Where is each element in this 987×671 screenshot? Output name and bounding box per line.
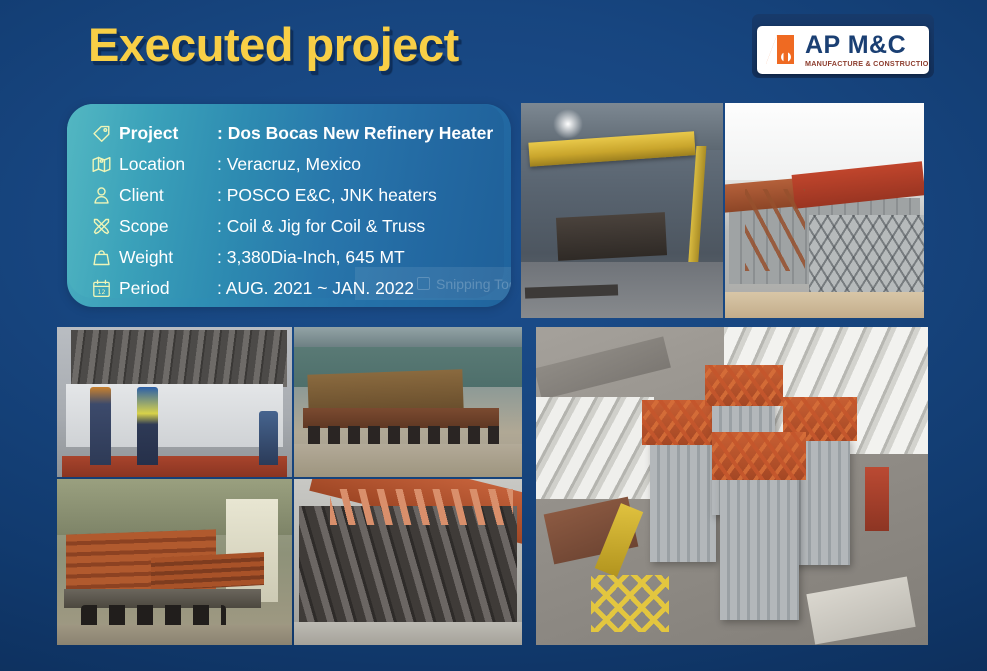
svg-text:12: 12: [97, 289, 105, 296]
photo-transport-trailer: [294, 327, 522, 477]
info-label-project: Project: [119, 123, 217, 144]
info-value-period: : AUG. 2021 ~ JAN. 2022: [217, 278, 503, 299]
info-value-project: : Dos Bocas New Refinery Heater: [217, 123, 503, 144]
info-label-scope: Scope: [119, 216, 217, 237]
photo-detail-heater-module: [720, 473, 798, 619]
tag-icon: [83, 121, 119, 147]
logo-subtitle: MANUFACTURE & CONSTRUCTION: [805, 60, 929, 67]
person-icon: [83, 183, 119, 209]
project-info-panel: Project : Dos Bocas New Refinery Heater …: [67, 104, 511, 307]
photo-detail-module-truss-cap: [705, 365, 783, 406]
info-value-weight: : 3,380Dia-Inch, 645 MT: [217, 247, 503, 268]
info-row-scope: Scope : Coil & Jig for Coil & Truss: [83, 211, 503, 242]
photo-coil-module: [57, 327, 292, 477]
info-row-project: Project : Dos Bocas New Refinery Heater: [83, 118, 503, 149]
slide-canvas: Executed project AP M&C MANUFACTURE & CO…: [0, 0, 987, 671]
calendar-icon: 12: [83, 276, 119, 302]
logo-text-block: AP M&C MANUFACTURE & CONSTRUCTION: [805, 33, 929, 67]
photo-detail-stored-vessels: [536, 397, 654, 499]
map-icon: [83, 152, 119, 178]
photo-coil-bends: [294, 479, 522, 645]
photo-red-truss: [725, 103, 924, 318]
photo-detail-trailer-deck: [303, 408, 499, 428]
photo-detail-coil-tubes: [71, 330, 287, 387]
photo-detail-lattice: [809, 215, 924, 292]
photo-detail-orange-beams-rear: [151, 552, 264, 591]
info-row-period: 12 Period : AUG. 2021 ~ JAN. 2022: [83, 273, 503, 304]
photo-detail-ground: [725, 292, 924, 318]
ap-mc-mark-icon: [764, 33, 800, 67]
photo-detail-trailer-wheels: [308, 426, 500, 444]
info-value-client: : POSCO E&C, JNK heaters: [217, 185, 503, 206]
info-label-weight: Weight: [119, 247, 217, 268]
photo-detail-worker: [259, 411, 278, 465]
photo-detail-red-crane: [865, 467, 889, 531]
info-label-client: Client: [119, 185, 217, 206]
photo-detail-floor: [294, 444, 522, 477]
info-row-client: Client : POSCO E&C, JNK heaters: [83, 180, 503, 211]
page-title: Executed project: [88, 17, 459, 72]
info-value-location: : Veracruz, Mexico: [217, 154, 503, 175]
photo-detail-roof: [294, 327, 522, 347]
logo-name: AP M&C: [805, 33, 929, 58]
photo-aerial-site: [536, 327, 928, 645]
info-label-period: Period: [119, 278, 217, 299]
photo-detail-heater-module: [650, 435, 717, 562]
photo-detail-module-truss-cap: [712, 432, 806, 480]
info-value-scope: : Coil & Jig for Coil & Truss: [217, 216, 503, 237]
photo-detail-floor: [294, 622, 522, 645]
photo-detail-ground: [57, 625, 292, 645]
photo-loaded-truck: [57, 479, 292, 645]
photo-workshop-crane: [521, 103, 723, 318]
photo-detail-diagonal-bracing: [745, 189, 805, 271]
info-row-location: Location : Veracruz, Mexico: [83, 149, 503, 180]
tools-icon: [83, 214, 119, 240]
photo-detail-worker: [90, 387, 111, 465]
photo-detail-lifted-load: [556, 212, 667, 261]
photo-detail-worker: [137, 387, 158, 465]
info-label-location: Location: [119, 154, 217, 175]
company-logo: AP M&C MANUFACTURE & CONSTRUCTION: [757, 26, 929, 74]
weight-icon: [83, 245, 119, 271]
info-row-weight: Weight : 3,380Dia-Inch, 645 MT: [83, 242, 503, 273]
photo-detail-yellow-frame: [591, 575, 669, 632]
project-info-rows: Project : Dos Bocas New Refinery Heater …: [83, 118, 503, 304]
photo-detail-pipe-ends: [330, 489, 512, 526]
